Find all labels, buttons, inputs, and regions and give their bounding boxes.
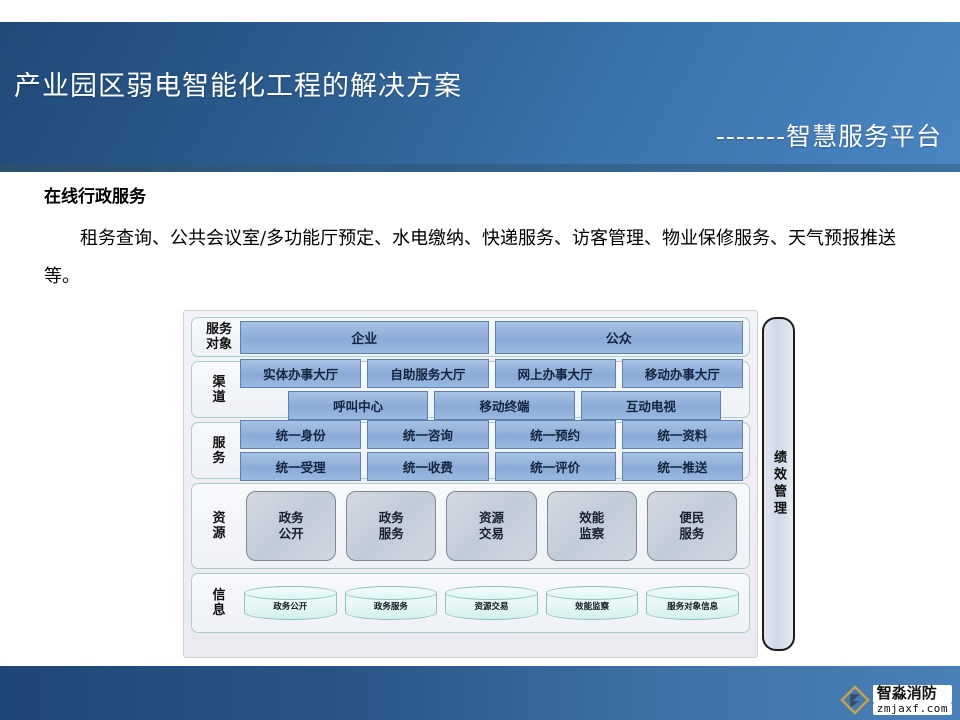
- row-label-line2: 务: [198, 451, 240, 466]
- row-label-line2: 息: [198, 603, 240, 618]
- diagram-box-unified-acceptance[interactable]: 统一受理: [240, 452, 361, 481]
- watermark-text: 智淼消防 zmjaxf.com: [873, 685, 952, 715]
- cylinder-label: 资源交易: [474, 600, 508, 612]
- diagram-box-call-center[interactable]: 呼叫中心: [288, 391, 428, 420]
- row-label-information: 信 息: [198, 588, 240, 618]
- diagram-box-online-hall[interactable]: 网上办事大厅: [495, 359, 616, 388]
- row-body-channel: 实体办事大厅 自助服务大厅 网上办事大厅 移动办事大厅 呼叫中心 移动终端 互动…: [240, 359, 743, 420]
- diagram-box-physical-hall[interactable]: 实体办事大厅: [240, 359, 361, 388]
- diagram-box-govt-disclosure[interactable]: 政务 公开: [246, 491, 336, 561]
- row-label-line2: 源: [198, 526, 240, 541]
- cells-channel-primary: 实体办事大厅 自助服务大厅 网上办事大厅 移动办事大厅: [240, 359, 743, 388]
- diagram-box-govt-service[interactable]: 政务 服务: [346, 491, 436, 561]
- row-body-resource: 政务 公开 政务 服务 资源 交易 效能 监察 便民 服务: [240, 491, 743, 561]
- row-label-service: 服 务: [198, 436, 240, 466]
- watermark-url: zmjaxf.com: [873, 703, 952, 715]
- row-label-channel: 渠 道: [198, 375, 240, 405]
- diagram-box-unified-payment[interactable]: 统一收费: [367, 452, 488, 481]
- row-label-line2: 对象: [198, 337, 240, 352]
- diagram-row-service: 服 务 统一身份 统一咨询 统一预约 统一资料 统一受理 统一收费 统一评价 统…: [191, 422, 750, 479]
- diagram-box-enterprise[interactable]: 企业: [240, 321, 489, 354]
- database-icon-resource-trading[interactable]: 资源交易: [445, 586, 538, 620]
- database-icon-govt-service[interactable]: 政务服务: [345, 586, 438, 620]
- diagram-row-audience: 服务 对象 企业 公众: [191, 317, 750, 357]
- section-paragraph: 租务查询、公共会议室/多功能厅预定、水电缴纳、快递服务、访客管理、物业保修服务、…: [44, 220, 924, 296]
- diagram-box-unified-push[interactable]: 统一推送: [622, 452, 743, 481]
- diagram-box-public[interactable]: 公众: [495, 321, 744, 354]
- row-label-resource: 资 源: [198, 511, 240, 541]
- diagram-box-mobile-terminal[interactable]: 移动终端: [434, 391, 574, 420]
- row-body-audience: 企业 公众: [240, 321, 743, 354]
- slide-footer: 智淼消防 zmjaxf.com: [0, 666, 960, 720]
- database-icon-efficiency-supervision[interactable]: 效能监察: [546, 586, 639, 620]
- diagram-box-unified-consult[interactable]: 统一咨询: [367, 420, 488, 449]
- slide: 产业园区弱电智能化工程的解决方案 -------智慧服务平台 在线行政服务 租务…: [0, 0, 960, 720]
- watermark: 智淼消防 zmjaxf.com: [840, 685, 952, 715]
- diagram-box-unified-booking[interactable]: 统一预约: [495, 420, 616, 449]
- diagram-box-mobile-hall[interactable]: 移动办事大厅: [622, 359, 743, 388]
- diagram-row-information: 信 息 政务公开 政务服务 资源交易 效能监察: [191, 573, 750, 633]
- page-title: 产业园区弱电智能化工程的解决方案: [14, 64, 462, 103]
- diagram-box-convenience-service[interactable]: 便民 服务: [647, 491, 737, 561]
- cells-information: 政务公开 政务服务 资源交易 效能监察 服务对象信息: [240, 586, 743, 620]
- diagram-box-selfservice-hall[interactable]: 自助服务大厅: [367, 359, 488, 388]
- diagram-box-efficiency-supervision[interactable]: 效能 监察: [547, 491, 637, 561]
- cylinder-label: 政务服务: [374, 600, 408, 612]
- database-icon-govt-disclosure[interactable]: 政务公开: [244, 586, 337, 620]
- cylinder-label: 政务公开: [273, 600, 307, 612]
- diagram-row-channel: 渠 道 实体办事大厅 自助服务大厅 网上办事大厅 移动办事大厅 呼叫中心 移动终…: [191, 361, 750, 418]
- cylinder-label: 效能监察: [575, 600, 609, 612]
- row-label-line1: 信: [198, 588, 240, 603]
- cells-resource: 政务 公开 政务 服务 资源 交易 效能 监察 便民 服务: [240, 491, 743, 561]
- diagram-box-unified-evaluation[interactable]: 统一评价: [495, 452, 616, 481]
- row-label-line1: 服务: [198, 322, 240, 337]
- database-icon-service-object-info[interactable]: 服务对象信息: [646, 586, 739, 620]
- row-label-audience: 服务 对象: [198, 322, 240, 352]
- row-body-information: 政务公开 政务服务 资源交易 效能监察 服务对象信息: [240, 586, 743, 620]
- section-title: 在线行政服务: [44, 182, 146, 207]
- row-body-service: 统一身份 统一咨询 统一预约 统一资料 统一受理 统一收费 统一评价 统一推送: [240, 420, 743, 481]
- watermark-brand: 智淼消防: [873, 685, 952, 703]
- cells-audience: 企业 公众: [240, 321, 743, 354]
- slide-header: 产业园区弱电智能化工程的解决方案 -------智慧服务平台: [0, 22, 960, 172]
- diagram-box-unified-materials[interactable]: 统一资料: [622, 420, 743, 449]
- cells-channel-secondary: 呼叫中心 移动终端 互动电视: [240, 391, 743, 420]
- diagram-box-resource-trading[interactable]: 资源 交易: [446, 491, 536, 561]
- brand-logo-icon: [840, 685, 870, 715]
- page-subtitle: -------智慧服务平台: [716, 117, 942, 153]
- architecture-diagram: 服务 对象 企业 公众 渠 道 实体办事大厅 自助服务大厅 网上办事大厅: [183, 310, 758, 658]
- row-label-line1: 服: [198, 436, 240, 451]
- diagram-box-interactive-tv[interactable]: 互动电视: [581, 391, 721, 420]
- performance-management-label: 绩效管理: [769, 450, 788, 518]
- cylinder-label: 服务对象信息: [667, 600, 718, 612]
- row-label-line1: 渠: [198, 375, 240, 390]
- row-label-line1: 资: [198, 511, 240, 526]
- diagram-row-resource: 资 源 政务 公开 政务 服务 资源 交易 效能 监察 便民 服务: [191, 483, 750, 569]
- cells-service-primary: 统一身份 统一咨询 统一预约 统一资料: [240, 420, 743, 449]
- performance-management-panel[interactable]: 绩效管理: [762, 317, 795, 651]
- row-label-line2: 道: [198, 390, 240, 405]
- diagram-box-unified-identity[interactable]: 统一身份: [240, 420, 361, 449]
- cells-service-secondary: 统一受理 统一收费 统一评价 统一推送: [240, 452, 743, 481]
